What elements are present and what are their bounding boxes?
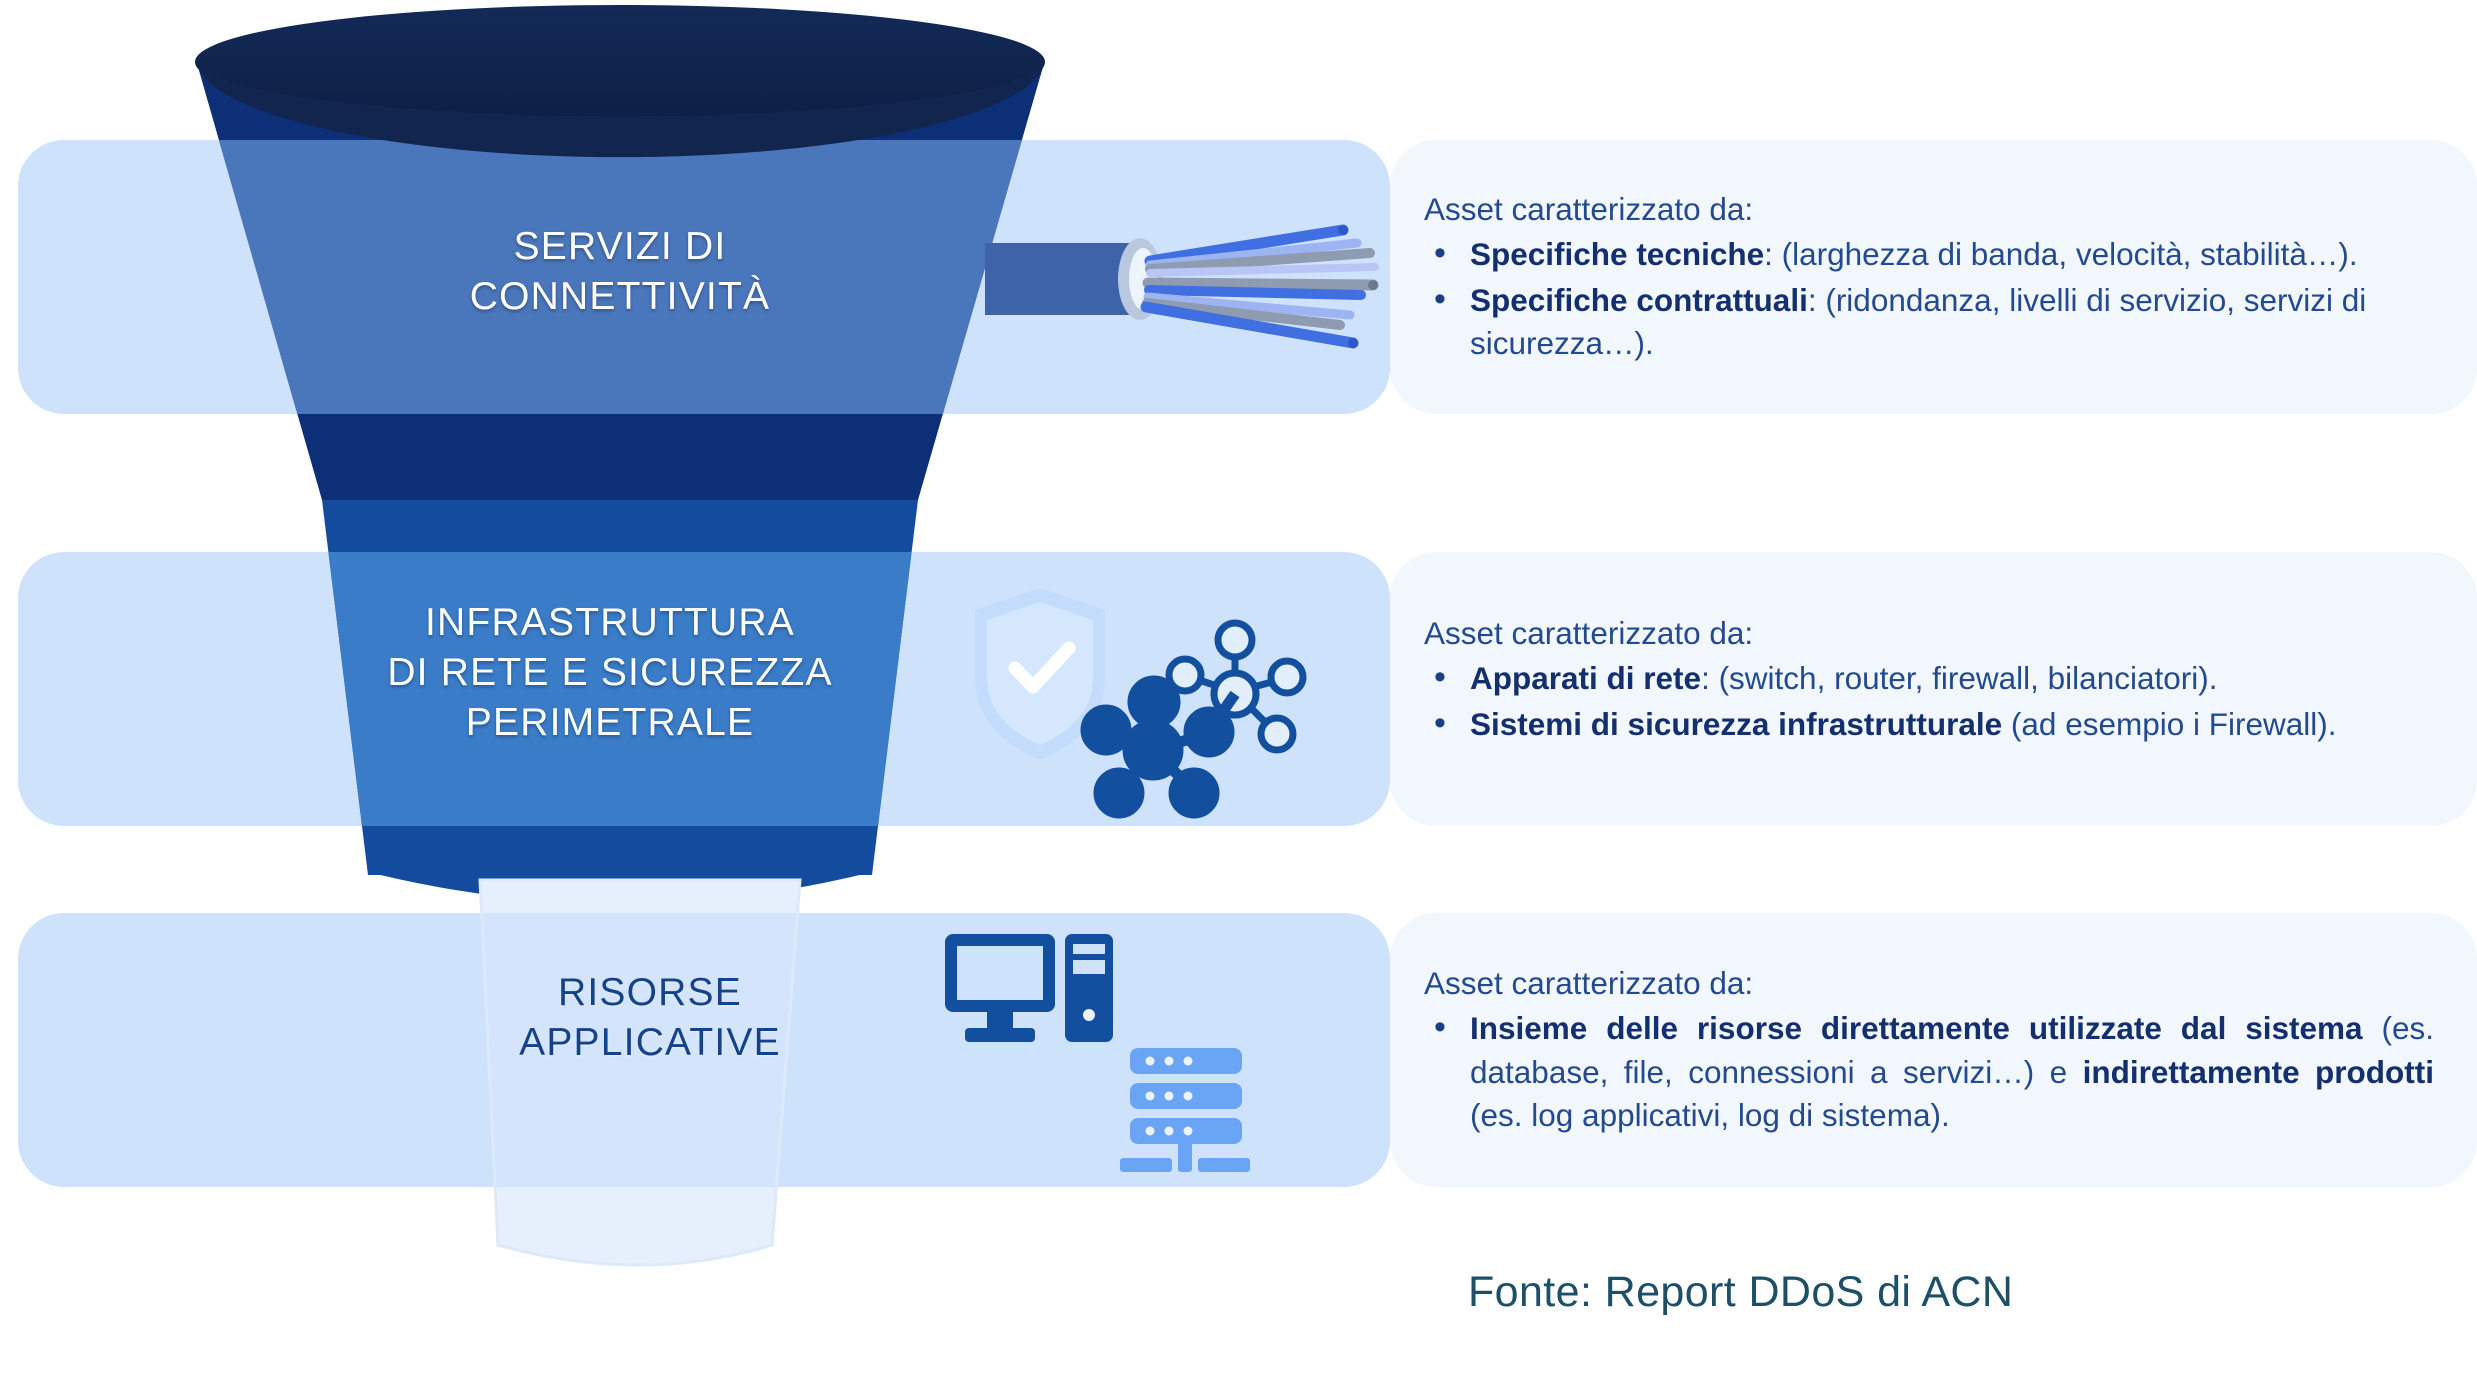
- funnel-label-connettivita: SERVIZI DI CONNETTIVITÀ: [300, 222, 940, 322]
- computer-tower-icon: [1065, 934, 1113, 1042]
- bullet-bold-text: Specifiche contrattuali: [1470, 282, 1808, 318]
- asset-bullet-list: • Apparati di rete: (switch, router, fir…: [1424, 657, 2444, 746]
- source-caption: Fonte: Report DDoS di ACN: [1468, 1268, 2013, 1317]
- asset-description-risorse: Asset caratterizzato da: • Insieme delle…: [1424, 962, 2434, 1140]
- asset-heading: Asset caratterizzato da:: [1424, 188, 2434, 231]
- infographic-canvas: SERVIZI DI CONNETTIVITÀ INFRASTRUTTURA D…: [0, 0, 2477, 1383]
- bullet-bold-text: Insieme delle risorse direttamente utili…: [1470, 1010, 2363, 1046]
- asset-bullet-list: • Insieme delle risorse direttamente uti…: [1424, 1007, 2434, 1137]
- funnel-label-line: APPLICATIVE: [420, 1018, 880, 1068]
- funnel-label-line: DI RETE E SICUREZZA: [330, 648, 890, 698]
- list-item: • Sistemi di sicurezza infrastrutturale …: [1424, 703, 2444, 746]
- funnel-label-line: PERIMETRALE: [330, 698, 890, 748]
- asset-bullet-list: • Specifiche tecniche: (larghezza di ban…: [1424, 233, 2434, 365]
- bullet-rest-text-2: (es. log applicativi, log di sistema).: [1470, 1097, 1950, 1133]
- asset-heading: Asset caratterizzato da:: [1424, 962, 2434, 1005]
- funnel-label-line: INFRASTRUTTURA: [330, 598, 890, 648]
- bullet-icon: •: [1434, 701, 1446, 745]
- bullet-icon: •: [1434, 655, 1446, 699]
- bullet-bold-text: Apparati di rete: [1470, 660, 1701, 696]
- server-rack-icon: [1120, 1048, 1250, 1172]
- funnel-label-line: RISORSE: [420, 968, 880, 1018]
- shield-network-icon: [945, 582, 1365, 822]
- funnel-label-line: SERVIZI DI: [300, 222, 940, 272]
- bullet-icon: •: [1434, 1005, 1446, 1049]
- bullet-bold-text-2: indirettamente prodotti: [2083, 1054, 2434, 1090]
- funnel-label-line: CONNETTIVITÀ: [300, 272, 940, 322]
- desktop-server-icon: [945, 930, 1345, 1180]
- asset-description-connettivita: Asset caratterizzato da: • Specifiche te…: [1424, 188, 2434, 368]
- funnel-label-risorse: RISORSE APPLICATIVE: [420, 968, 880, 1068]
- list-item: • Insieme delle risorse direttamente uti…: [1424, 1007, 2434, 1137]
- bullet-bold-text: Specifiche tecniche: [1470, 236, 1764, 272]
- asset-heading: Asset caratterizzato da:: [1424, 612, 2444, 655]
- bullet-icon: •: [1434, 231, 1446, 275]
- list-item: • Specifiche contrattuali: (ridondanza, …: [1424, 279, 2434, 366]
- list-item: • Specifiche tecniche: (larghezza di ban…: [1424, 233, 2434, 276]
- bullet-icon: •: [1434, 277, 1446, 321]
- fiber-optic-cable-icon: [985, 195, 1385, 385]
- funnel-label-infrastruttura: INFRASTRUTTURA DI RETE E SICUREZZA PERIM…: [330, 598, 890, 748]
- asset-description-infrastruttura: Asset caratterizzato da: • Apparati di r…: [1424, 612, 2444, 748]
- bullet-rest-text: : (switch, router, firewall, bilanciator…: [1701, 660, 2217, 696]
- bullet-bold-text: Sistemi di sicurezza infrastrutturale: [1470, 706, 2002, 742]
- bullet-rest-text: (ad esempio i Firewall).: [2002, 706, 2336, 742]
- list-item: • Apparati di rete: (switch, router, fir…: [1424, 657, 2444, 700]
- monitor-icon: [945, 934, 1055, 1042]
- bullet-rest-text: : (larghezza di banda, velocità, stabili…: [1764, 236, 2358, 272]
